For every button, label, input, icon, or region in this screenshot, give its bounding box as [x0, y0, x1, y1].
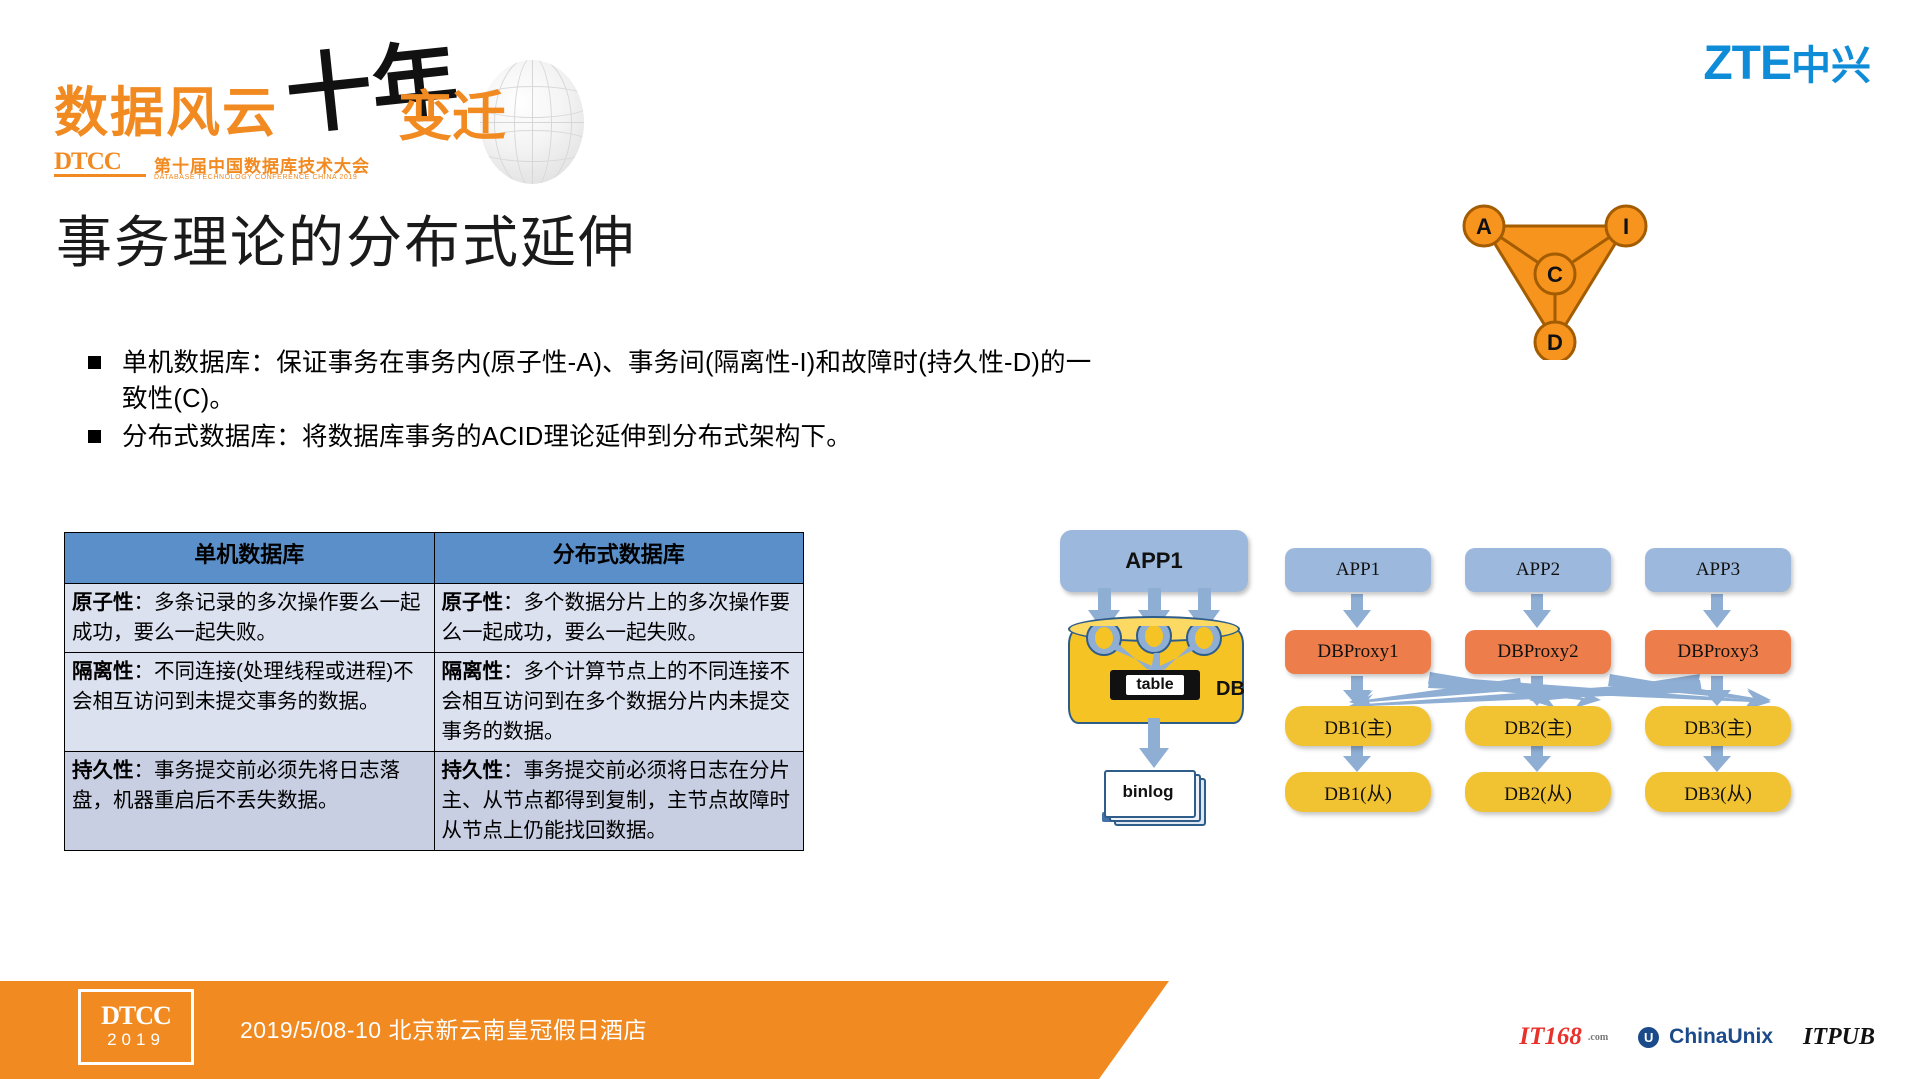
sponsor-it168-name: IT168 [1519, 1023, 1582, 1051]
table-cell-left: 持久性：事务提交前必须先将日志落盘，机器重启后不丢失数据。 [65, 752, 435, 851]
table-cell-left: 隔离性：不同连接(处理线程或进程)不会相互访问到未提交事务的数据。 [65, 653, 435, 752]
db-master-node: DB3(主) [1645, 706, 1791, 746]
footer-logo-bottom: 2019 [107, 1029, 165, 1051]
sponsor-itpub-name: ITPUB [1803, 1024, 1875, 1051]
footer-dtcc-logo: DTCC 2019 [78, 989, 194, 1065]
acid-node-c: C [1547, 262, 1563, 287]
db-slave-node: DB2(从) [1465, 772, 1611, 812]
cell-label: 原子性 [72, 591, 134, 614]
table-header-row: 单机数据库 分布式数据库 [65, 533, 804, 584]
db-slave-node: DB3(从) [1645, 772, 1791, 812]
footer-event-info: 2019/5/08-10 北京新云南皇冠假日酒店 [240, 1011, 647, 1045]
list-item: 单机数据库：保证事务在事务内(原子性-A)、事务间(隔离性-I)和故障时(持久性… [88, 345, 1108, 417]
app-node: APP2 [1465, 548, 1611, 592]
dbproxy-node: DBProxy1 [1285, 630, 1431, 674]
dbproxy-node: DBProxy2 [1465, 630, 1611, 674]
bullet-square-icon [88, 345, 122, 385]
single-node-db-diagram: APP1 table DB [1048, 530, 1248, 840]
binlog-arrow [1136, 718, 1176, 774]
table-row: 隔离性：不同连接(处理线程或进程)不会相互访问到未提交事务的数据。 隔离性：多个… [65, 653, 804, 752]
bullet-text: 分布式数据库：将数据库事务的ACID理论延伸到分布式架构下。 [122, 419, 852, 455]
footer-logo-top: DTCC [101, 1003, 171, 1029]
table-node: table [1110, 670, 1200, 700]
db-label: DB [1216, 678, 1245, 701]
db-master-node: DB2(主) [1465, 706, 1611, 746]
logo-subtitle-en: DATABASE TECHNOLOGY CONFERENCE CHINA 201… [154, 174, 357, 181]
slide-root: 数据风云 十年 变迁 DTCC 第十届中国数据库技术大会 DATABASE TE… [0, 0, 1919, 1079]
acid-node-d: D [1547, 330, 1563, 355]
logo-bian-text: 变迁 [398, 90, 506, 144]
logo-main-text: 数据风云 [54, 86, 278, 140]
db-slave-node: DB1(从) [1285, 772, 1431, 812]
app-node: APP3 [1645, 548, 1791, 592]
table-header-cell: 单机数据库 [65, 533, 435, 584]
logo-underline [54, 174, 146, 177]
table-row: 原子性：多条记录的多次操作要么一起成功，要么一起失败。 原子性：多个数据分片上的… [65, 584, 804, 653]
app-node: APP1 [1285, 548, 1431, 592]
chinaunix-mark-icon: U [1638, 1027, 1659, 1048]
acid-node-a: A [1476, 214, 1492, 239]
cell-label: 持久性 [442, 759, 504, 782]
table-header-cell: 分布式数据库 [434, 533, 804, 584]
acid-triangle-diagram: A I C D [1460, 200, 1650, 360]
footer-bar: DTCC 2019 2019/5/08-10 北京新云南皇冠假日酒店 IT168… [0, 981, 1919, 1079]
sponsor-logos: IT168 .com U ChinaUnix ITPUB [1519, 1023, 1875, 1051]
footer-diagonal [1099, 981, 1169, 1079]
cell-label: 隔离性 [72, 660, 134, 683]
cell-label: 持久性 [72, 759, 134, 782]
list-item: 分布式数据库：将数据库事务的ACID理论延伸到分布式架构下。 [88, 419, 1108, 459]
comparison-table: 单机数据库 分布式数据库 原子性：多条记录的多次操作要么一起成功，要么一起失败。… [64, 532, 804, 851]
dtcc-logo: 数据风云 十年 变迁 DTCC 第十届中国数据库技术大会 DATABASE TE… [46, 38, 546, 168]
db-master-node: DB1(主) [1285, 706, 1431, 746]
sponsor-chinaunix-name: ChinaUnix [1669, 1025, 1773, 1049]
zte-logo-en: ZTE [1703, 37, 1791, 90]
binlog-node: binlog [1104, 770, 1200, 822]
distributed-db-diagram: APP1 DBProxy1 DB1(主) DB1(从) APP2 DBProxy… [1285, 548, 1885, 848]
bullet-text: 单机数据库：保证事务在事务内(原子性-A)、事务间(隔离性-I)和故障时(持久性… [122, 345, 1108, 417]
sponsor-it168: IT168 .com [1519, 1023, 1608, 1051]
bullet-square-icon [88, 419, 122, 459]
logo-dtcc-abbrev: DTCC [54, 148, 121, 176]
sponsor-it168-suffix: .com [1588, 1032, 1608, 1043]
bullet-list: 单机数据库：保证事务在事务内(原子性-A)、事务间(隔离性-I)和故障时(持久性… [88, 345, 1108, 461]
dbproxy-node: DBProxy3 [1645, 630, 1791, 674]
sponsor-chinaunix: U ChinaUnix [1638, 1025, 1773, 1049]
binlog-label: binlog [1104, 770, 1192, 814]
page-title: 事务理论的分布式延伸 [56, 198, 636, 279]
sponsor-itpub: ITPUB [1803, 1024, 1875, 1051]
table-cell-left: 原子性：多条记录的多次操作要么一起成功，要么一起失败。 [65, 584, 435, 653]
zte-logo-cn: 中兴 [1791, 44, 1871, 88]
table-row: 持久性：事务提交前必须先将日志落盘，机器重启后不丢失数据。 持久性：事务提交前必… [65, 752, 804, 851]
table-node-label: table [1126, 675, 1183, 695]
cell-label: 原子性 [442, 591, 504, 614]
zte-logo: ZTE中兴 [1703, 40, 1871, 88]
table-cell-right: 原子性：多个数据分片上的多次操作要么一起成功，要么一起失败。 [434, 584, 804, 653]
acid-node-i: I [1623, 214, 1629, 239]
table-cell-right: 持久性：事务提交前必须将日志在分片主、从节点都得到复制，主节点故障时从节点上仍能… [434, 752, 804, 851]
app-box: APP1 [1060, 530, 1248, 592]
table-cell-right: 隔离性：多个计算节点上的不同连接不会相互访问到在多个数据分片内未提交事务的数据。 [434, 653, 804, 752]
cell-label: 隔离性 [442, 660, 504, 683]
